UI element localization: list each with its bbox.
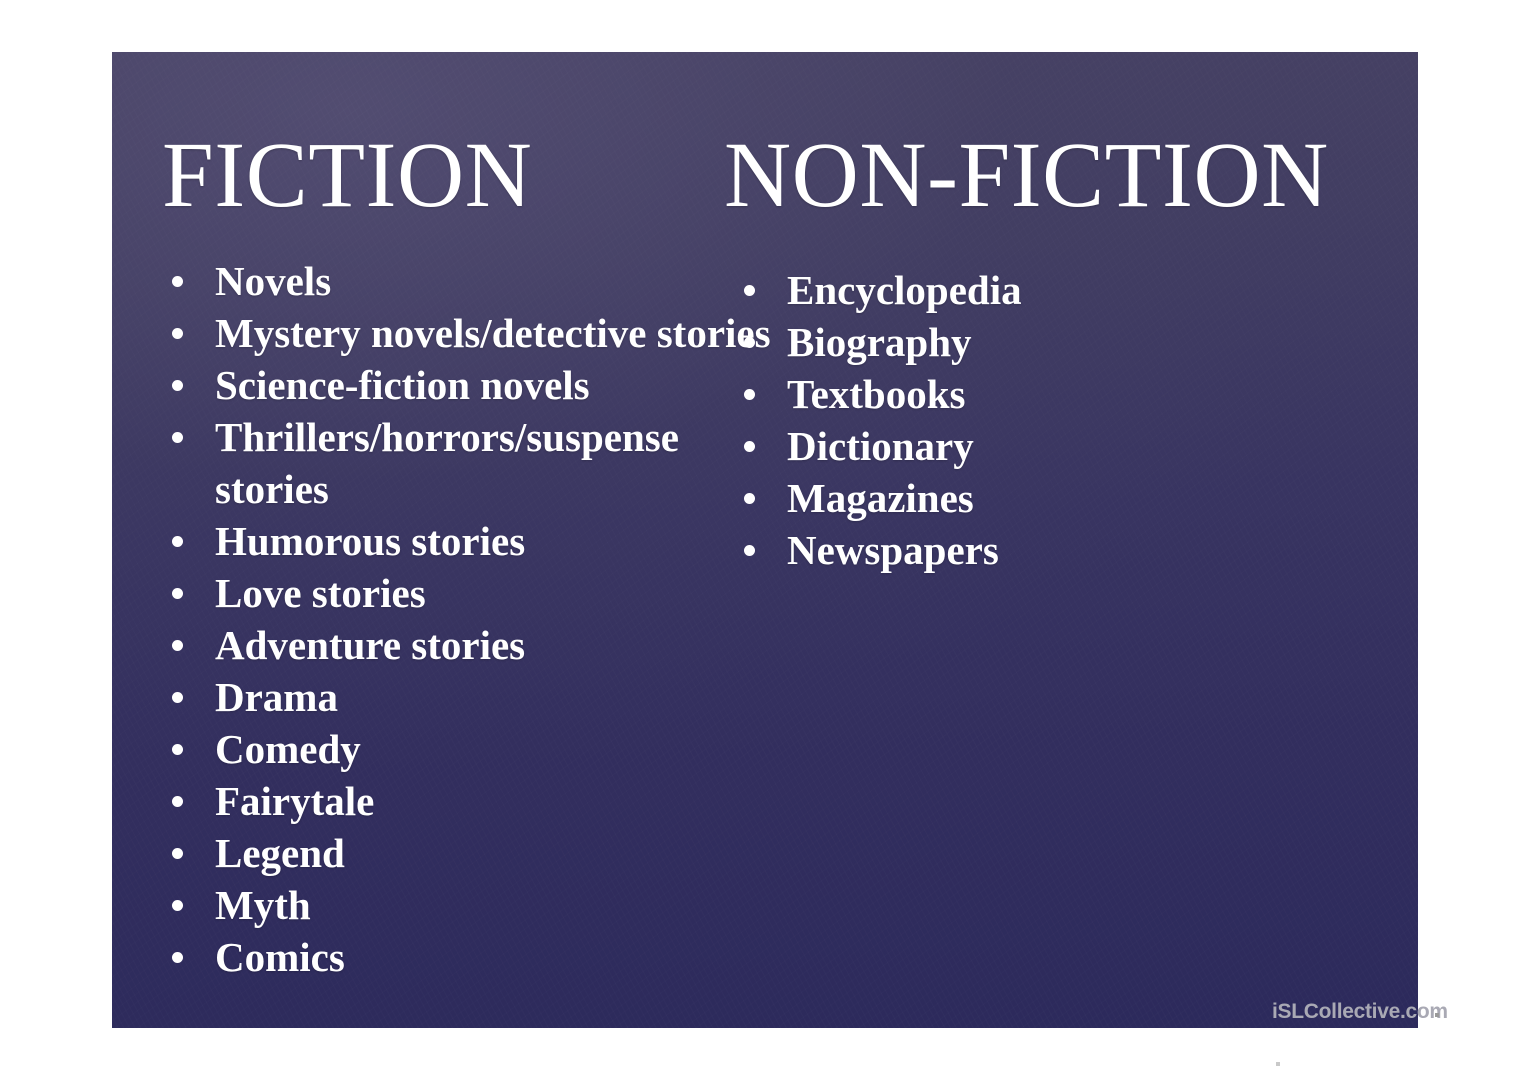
page-marker-dot-secondary — [1276, 1062, 1280, 1066]
list-item: Fairytale — [164, 775, 790, 827]
list-item-label: Novels — [215, 258, 331, 304]
list-item: Comics — [164, 931, 790, 983]
list-item-label: Fairytale — [215, 778, 374, 824]
list-item-label: Magazines — [787, 475, 974, 521]
list-item-label: Thrillers/horrors/suspense stories — [215, 414, 679, 512]
list-item: Thrillers/horrors/suspense stories — [164, 411, 790, 515]
list-item: Comedy — [164, 723, 790, 775]
list-item-label: Drama — [215, 674, 338, 720]
slide-canvas: FICTION Novels Mystery novels/detective … — [112, 52, 1418, 1028]
list-item: Adventure stories — [164, 619, 790, 671]
list-item: Science-fiction novels — [164, 359, 790, 411]
column-nonfiction: NON-FICTION Encyclopedia Biography Textb… — [712, 52, 1402, 576]
bullet-icon — [172, 432, 183, 443]
bullet-icon — [744, 389, 755, 400]
list-item-label: Comedy — [215, 726, 361, 772]
column-title-fiction: FICTION — [160, 129, 780, 222]
bullet-icon — [172, 848, 183, 859]
list-item-label: Textbooks — [787, 371, 966, 417]
list-item-label: Biography — [787, 319, 972, 365]
list-item-label: Science-fiction novels — [215, 362, 590, 408]
bullet-icon — [744, 285, 755, 296]
list-item-label: Comics — [215, 934, 345, 980]
bullet-icon — [744, 441, 755, 452]
list-item: Magazines — [736, 472, 1387, 524]
bullet-icon — [172, 952, 183, 963]
list-item-label: Adventure stories — [215, 622, 525, 668]
list-item: Dictionary — [736, 420, 1387, 472]
list-item: Biography — [736, 316, 1387, 368]
list-item: Drama — [164, 671, 790, 723]
bullet-icon — [172, 744, 183, 755]
list-item: Encyclopedia — [736, 264, 1387, 316]
bullet-icon — [172, 640, 183, 651]
nonfiction-genre-list: Encyclopedia Biography Textbooks Diction… — [712, 264, 1402, 576]
list-item-label: Dictionary — [787, 423, 974, 469]
list-item: Novels — [164, 255, 790, 307]
list-item: Love stories — [164, 567, 790, 619]
page-marker-dot — [1435, 1013, 1439, 1017]
list-item-label: Encyclopedia — [787, 267, 1022, 313]
bullet-icon — [172, 536, 183, 547]
bullet-icon — [172, 276, 183, 287]
list-item: Textbooks — [736, 368, 1387, 420]
list-item-label: Myth — [215, 882, 311, 928]
list-item-label: Humorous stories — [215, 518, 525, 564]
bullet-icon — [744, 493, 755, 504]
column-fiction: FICTION Novels Mystery novels/detective … — [160, 52, 780, 983]
bullet-icon — [172, 588, 183, 599]
list-item: Myth — [164, 879, 790, 931]
bullet-icon — [744, 545, 755, 556]
column-title-nonfiction: NON-FICTION — [712, 129, 1402, 222]
watermark-islcollective: iSLCollective.com — [1272, 1000, 1448, 1024]
list-item-label: Legend — [215, 830, 345, 876]
fiction-genre-list: Novels Mystery novels/detective stories … — [160, 255, 780, 983]
bullet-icon — [172, 900, 183, 911]
list-item-label: Mystery novels/detective stories — [215, 310, 771, 356]
bullet-icon — [172, 796, 183, 807]
list-item: Humorous stories — [164, 515, 790, 567]
list-item-label: Newspapers — [787, 527, 999, 573]
bullet-icon — [172, 380, 183, 391]
list-item: Newspapers — [736, 524, 1387, 576]
bullet-icon — [744, 337, 755, 348]
bullet-icon — [172, 328, 183, 339]
bullet-icon — [172, 692, 183, 703]
list-item: Legend — [164, 827, 790, 879]
list-item: Mystery novels/detective stories — [164, 307, 790, 359]
list-item-label: Love stories — [215, 570, 426, 616]
